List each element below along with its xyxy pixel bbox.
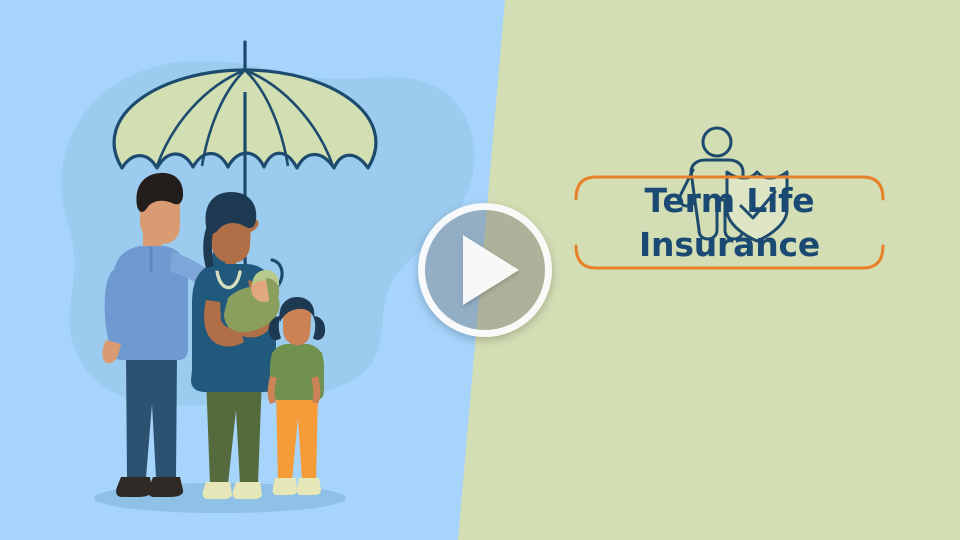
title-line-2: Insurance [639, 223, 820, 267]
page-title: Term Life Insurance [572, 163, 887, 282]
play-triangle-icon [463, 235, 519, 305]
right-panel: Term Life Insurance [560, 0, 960, 540]
title-line-1: Term Life [645, 179, 815, 223]
video-thumbnail[interactable]: Term Life Insurance [0, 0, 960, 540]
girl-figure [268, 297, 325, 495]
play-button[interactable] [418, 203, 552, 337]
title-card: Term Life Insurance [572, 163, 887, 282]
